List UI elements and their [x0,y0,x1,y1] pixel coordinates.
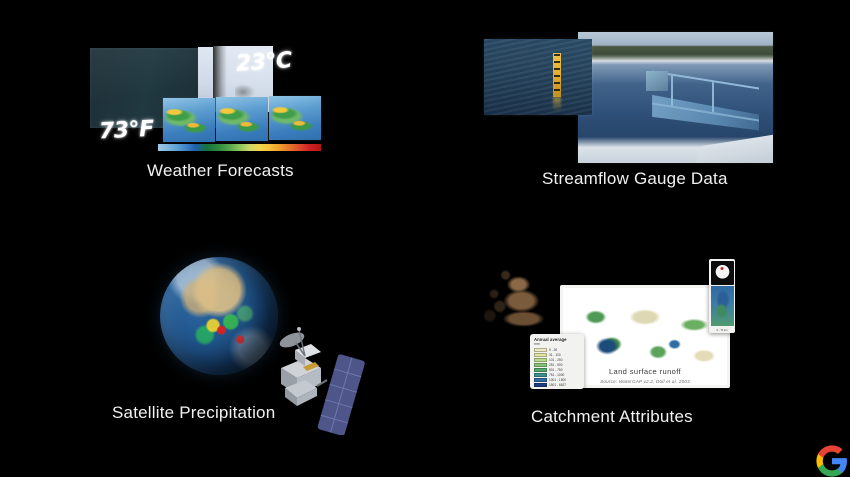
caption-weather-forecasts: Weather Forecasts [147,161,294,181]
radar-map-tile-3 [269,96,321,140]
snowbank-shape [695,134,773,163]
caption-satellite-precipitation: Satellite Precipitation [112,403,275,423]
legend-entry-list: 0 - 3031 - 100101 - 250251 - 500501 - 75… [534,347,580,387]
legend-range-label: 751 - 1000 [549,373,564,377]
legend-range-label: 501 - 750 [549,368,562,372]
satellite-icon [265,310,365,435]
runoff-map-legend: Annual average mm 0 - 3031 - 100101 - 25… [530,334,584,389]
catchment-elevation-map [711,286,734,326]
staff-gauge-reflection [553,97,561,112]
legend-range-label: 31 - 100 [549,353,561,357]
legend-range-label: 0 - 30 [549,348,557,352]
legend-swatch [534,348,547,352]
legend-range-label: 251 - 500 [549,363,562,367]
earth-globe-precipitation-render [160,257,278,375]
legend-unit: mm [534,342,580,346]
catchment-inset-card: 0 - 70 km [709,259,735,333]
legend-entry: 1501 - 6637 [534,382,580,387]
staff-gauge-ruler [553,53,561,97]
temperature-fahrenheit-annotation: 73°F [98,117,154,145]
runoff-map-source: Source: WaterGAP v2.2, Döll et al. 2003 [560,379,730,384]
staff-gauge-photo [484,39,592,115]
legend-swatch [534,378,547,382]
legend-range-label: 1001 - 1500 [549,378,566,382]
google-logo [815,444,849,477]
legend-swatch [534,353,547,357]
legend-swatch [534,358,547,362]
slide-root: 23°C 73°F Weather Forecasts Streamflow G… [0,0,850,477]
legend-swatch [534,363,547,367]
precipitation-intensity-colorbar [158,144,321,151]
radar-map-tile-2 [216,97,268,141]
temperature-celsius-annotation: 23°C [235,48,292,77]
runoff-map-title: Land surface runoff [560,367,730,376]
gpm-satellite-render [265,310,365,435]
caption-streamflow-gauge-data: Streamflow Gauge Data [542,169,728,189]
streamflow-gauge-station-photo [578,32,773,163]
gauge-instrument-box [646,71,667,91]
legend-swatch [534,383,547,387]
catchment-inset-scale-label: 0 - 70 km [711,329,733,332]
caption-catchment-attributes: Catchment Attributes [531,407,693,427]
legend-range-label: 1501 - 6637 [549,383,566,387]
catchment-rose-diagram [711,261,734,285]
legend-swatch [534,368,547,372]
soil-pile-photo [484,258,556,336]
google-g-icon [815,444,849,477]
legend-swatch [534,373,547,377]
radar-map-tile-1 [163,98,215,142]
legend-range-label: 101 - 250 [549,358,562,362]
land-surface-runoff-map: Land surface runoff Source: WaterGAP v2.… [560,285,730,388]
